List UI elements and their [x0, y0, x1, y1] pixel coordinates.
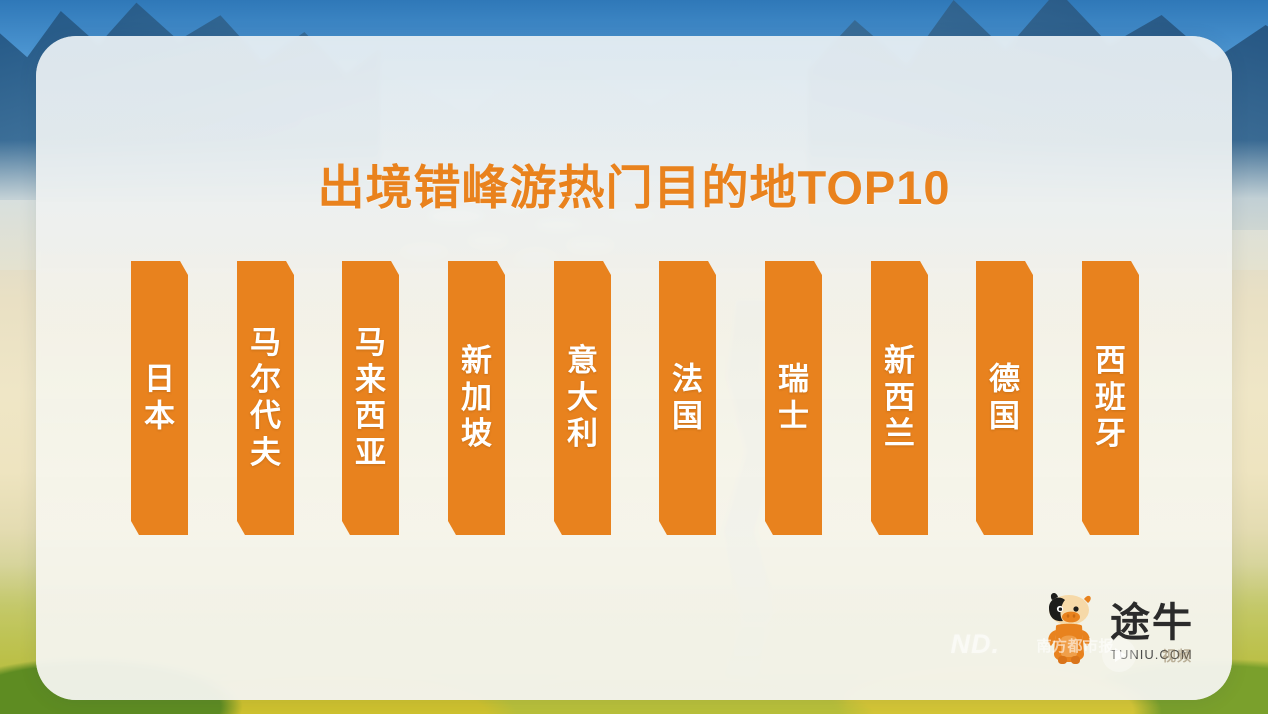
bar-label: 德国	[976, 361, 1033, 434]
bar-label: 日本	[131, 361, 188, 434]
bar-label: 法国	[659, 361, 716, 434]
bar-slot: 新加坡	[448, 261, 505, 535]
bar-label: 西班牙	[1082, 343, 1139, 453]
logo-brand-cn: 途牛	[1110, 604, 1194, 643]
bar-label: 马来西亚	[342, 325, 399, 471]
bar-slot: 马来西亚	[342, 261, 399, 535]
bar-label: 瑞士	[765, 361, 822, 434]
bar-slot: 德国	[976, 261, 1033, 535]
ranking-bar[interactable]: 德国	[976, 261, 1033, 535]
bar-slot: 马尔代夫	[237, 261, 294, 535]
bar-label: 新加坡	[448, 343, 505, 453]
ranking-bar[interactable]: 马尔代夫	[237, 261, 294, 535]
ranking-bar[interactable]: 新西兰	[871, 261, 928, 535]
watermark-video-label: 视频	[1162, 646, 1192, 666]
infographic-stage: 出境错峰游热门目的地TOP10 日本马尔代夫马来西亚新加坡意大利法国瑞士新西兰德…	[0, 0, 1268, 714]
watermark-nd: ND.	[951, 629, 1001, 660]
ranking-bar[interactable]: 日本	[131, 261, 188, 535]
bar-label: 新西兰	[871, 343, 928, 453]
content-card: 出境错峰游热门目的地TOP10 日本马尔代夫马来西亚新加坡意大利法国瑞士新西兰德…	[36, 36, 1232, 700]
play-icon	[1102, 638, 1136, 672]
bar-slot: 法国	[659, 261, 716, 535]
ranking-bar[interactable]: 意大利	[554, 261, 611, 535]
bar-slot: 瑞士	[765, 261, 822, 535]
ranking-bar[interactable]: 瑞士	[765, 261, 822, 535]
ranking-bar[interactable]: 法国	[659, 261, 716, 535]
ranking-bar[interactable]: 新加坡	[448, 261, 505, 535]
ranking-bar-chart: 日本马尔代夫马来西亚新加坡意大利法国瑞士新西兰德国西班牙	[131, 261, 1139, 535]
ranking-bar[interactable]: 马来西亚	[342, 261, 399, 535]
bar-label: 马尔代夫	[237, 325, 294, 471]
bar-label: 意大利	[554, 343, 611, 453]
ranking-bar[interactable]: 西班牙	[1082, 261, 1139, 535]
bar-slot: 意大利	[554, 261, 611, 535]
bar-slot: 新西兰	[871, 261, 928, 535]
bar-slot: 西班牙	[1082, 261, 1139, 535]
bar-slot: 日本	[131, 261, 188, 535]
page-title: 出境错峰游热门目的地TOP10	[36, 149, 1232, 218]
